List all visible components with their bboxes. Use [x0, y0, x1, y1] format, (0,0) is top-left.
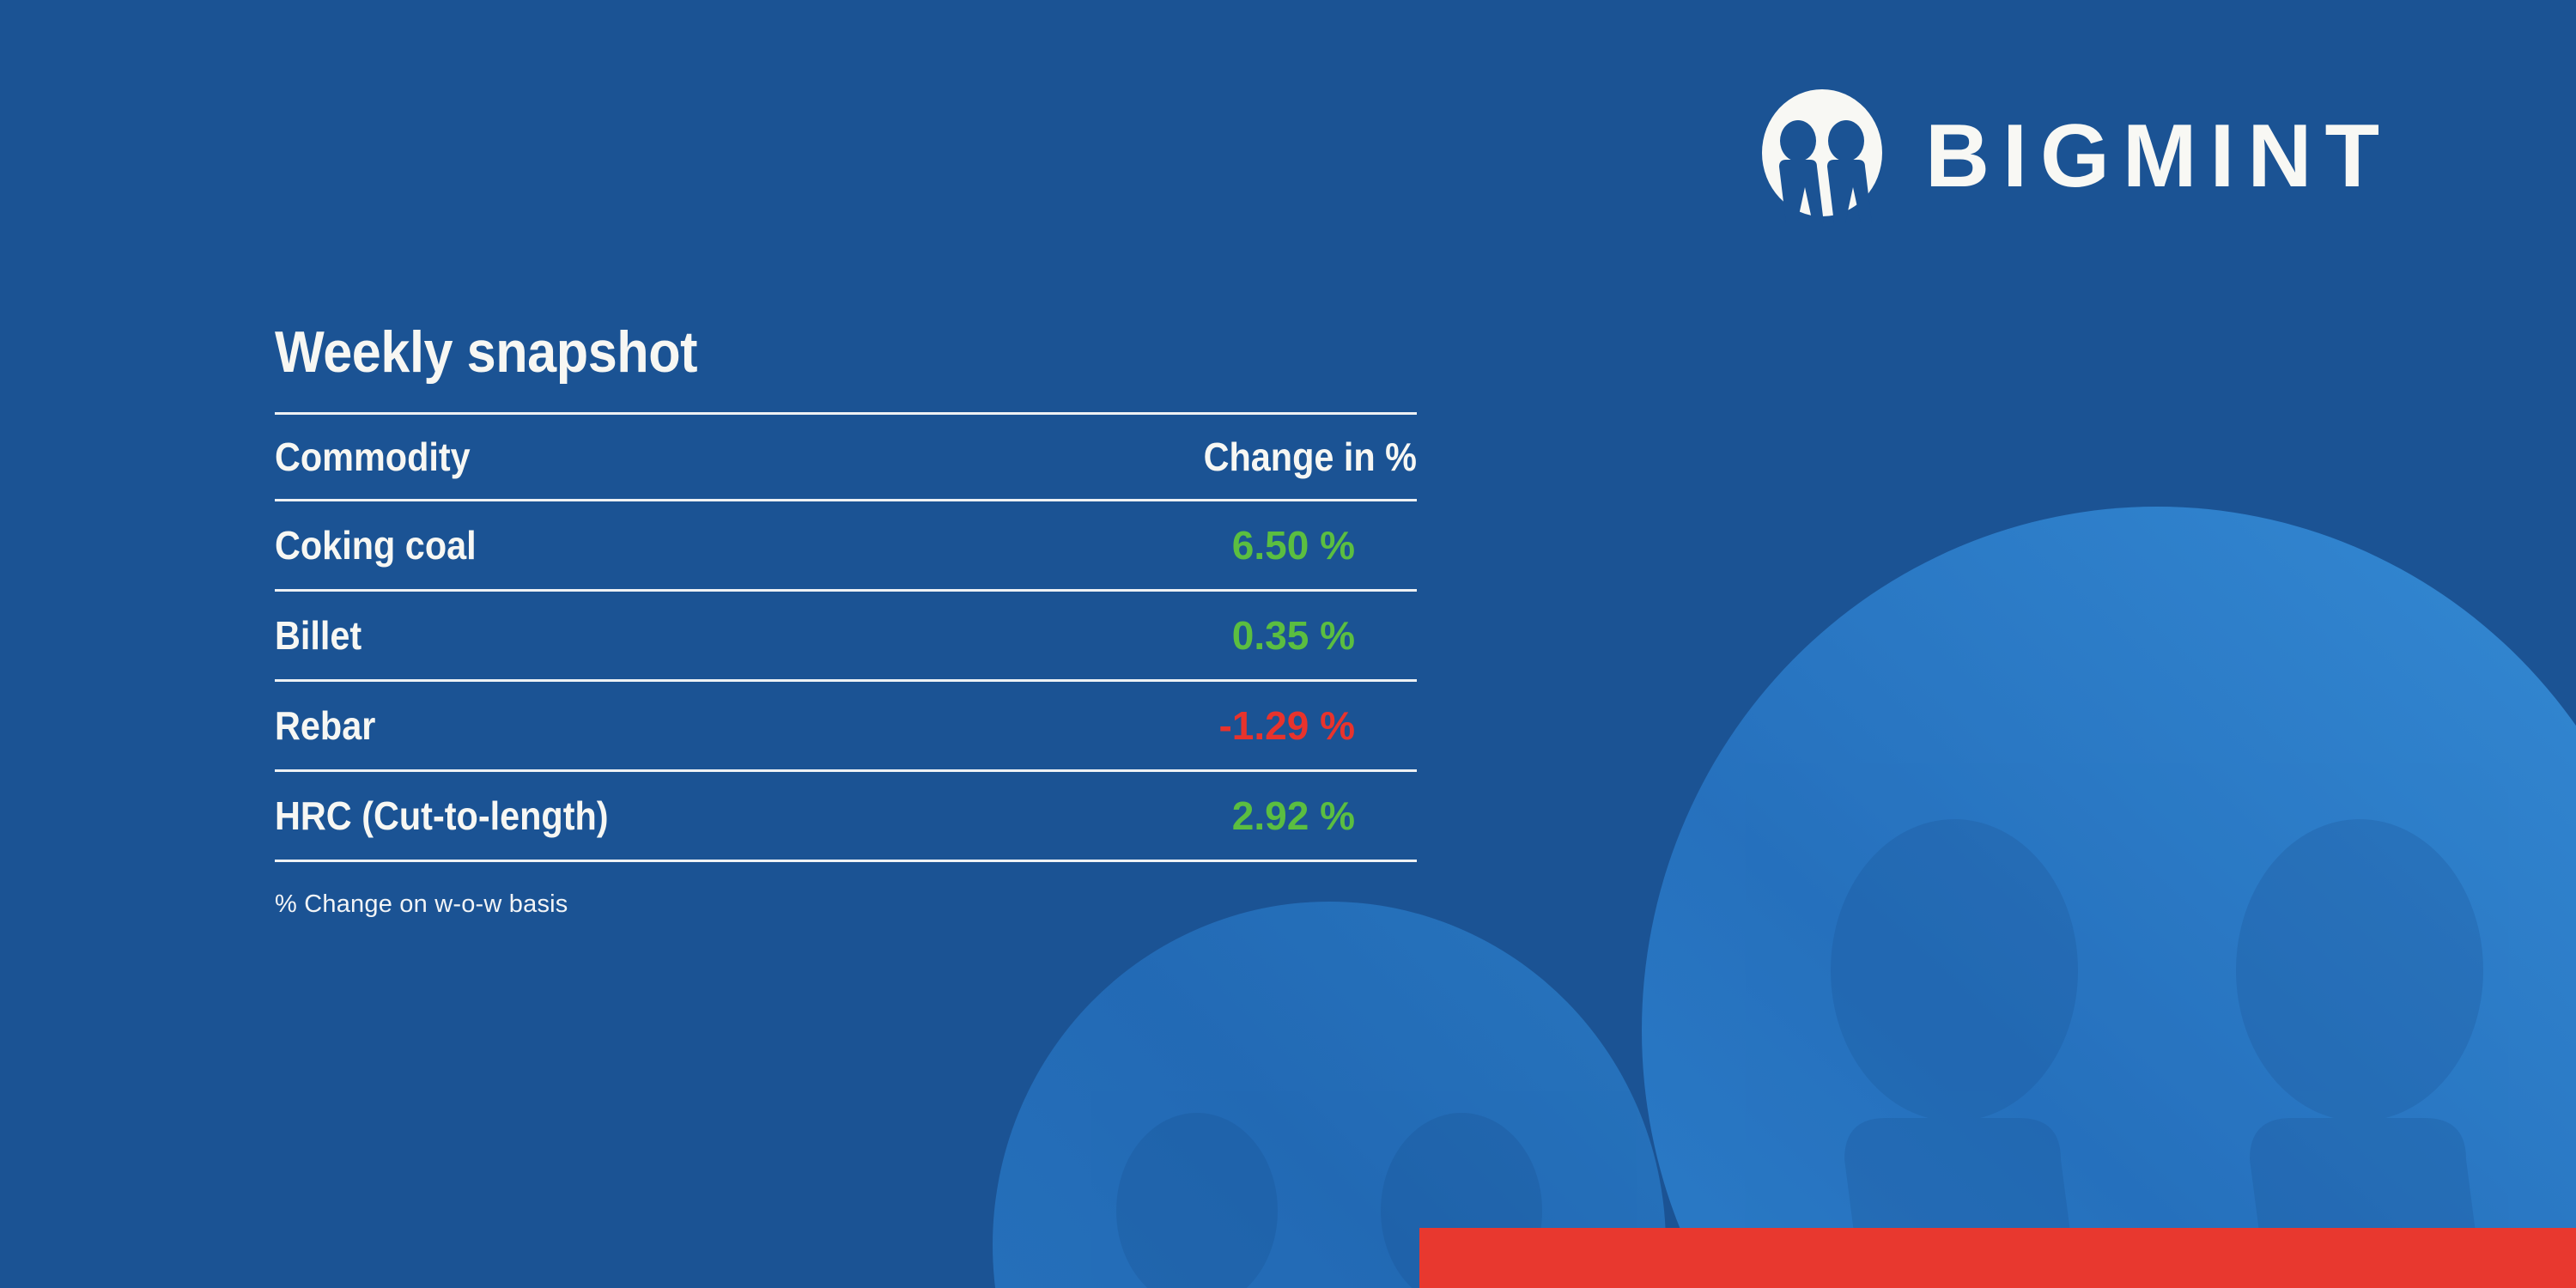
cell-commodity: Billet: [275, 591, 987, 681]
change-value: 0.35 %: [987, 616, 1417, 655]
brand-wordmark: BIGMINT: [1925, 112, 2392, 201]
table-row: Billet 0.35 %: [275, 591, 1417, 681]
change-value: 6.50 %: [987, 526, 1417, 565]
table-footnote: % Change on w-o-w basis: [275, 890, 568, 920]
cell-change: -1.29 %: [987, 681, 1417, 771]
cell-change: 2.92 %: [987, 771, 1417, 861]
commodity-label: Coking coal: [275, 526, 916, 565]
commodity-label: Billet: [275, 616, 916, 655]
cell-commodity: Rebar: [275, 681, 987, 771]
column-header-commodity: Commodity: [275, 414, 987, 501]
table-row: HRC (Cut-to-length) 2.92 %: [275, 771, 1417, 861]
bigmint-logo-icon: [1753, 84, 1891, 228]
cell-commodity: Coking coal: [275, 501, 987, 591]
cell-commodity: HRC (Cut-to-length): [275, 771, 987, 861]
bigmint-logo-watermark-large: [1642, 498, 2576, 1288]
weekly-snapshot-panel: Weekly snapshot Commodity Change in % Co…: [275, 323, 1417, 862]
table-row: Rebar -1.29 %: [275, 681, 1417, 771]
column-header-change: Change in %: [987, 414, 1417, 501]
table-row: Coking coal 6.50 %: [275, 501, 1417, 591]
column-header-commodity-label: Commodity: [275, 437, 916, 477]
cell-change: 0.35 %: [987, 591, 1417, 681]
brand-logo: BIGMINT: [1753, 84, 2392, 228]
change-value: 2.92 %: [987, 796, 1417, 835]
accent-bar: [1419, 1228, 2576, 1288]
change-value: -1.29 %: [987, 706, 1417, 745]
table-body: Coking coal 6.50 % Billet 0.35 %: [275, 501, 1417, 861]
cell-change: 6.50 %: [987, 501, 1417, 591]
page-title: Weekly snapshot: [275, 323, 1303, 381]
table-header: Commodity Change in %: [275, 414, 1417, 501]
weekly-snapshot-table: Commodity Change in % Coking coal 6.50 %: [275, 412, 1417, 862]
commodity-label: HRC (Cut-to-length): [275, 796, 916, 835]
commodity-label: Rebar: [275, 706, 916, 745]
poster-canvas: BIGMINT Weekly snapshot Commodity Change…: [0, 0, 2576, 1288]
column-header-change-label: Change in %: [1030, 437, 1417, 477]
table-header-row: Commodity Change in %: [275, 414, 1417, 501]
